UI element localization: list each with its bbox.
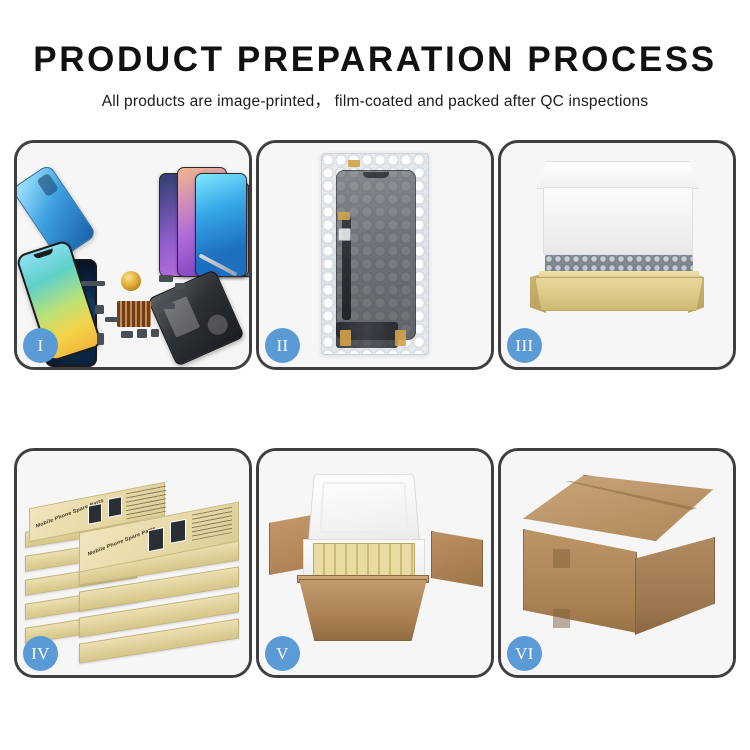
page-title: PRODUCT PREPARATION PROCESS: [0, 42, 750, 79]
part-small-5-icon: [157, 303, 175, 309]
part-small-2-icon: [175, 283, 185, 289]
part-strip-icon: [81, 281, 105, 286]
step-badge-2: II: [265, 328, 300, 363]
process-steps-grid: I II: [14, 140, 736, 730]
box-window-rear-1: [88, 503, 102, 525]
foam-lid-icon: [308, 474, 420, 543]
step-badge-1: I: [23, 328, 58, 363]
tape-top-icon: [348, 160, 360, 167]
carton-front-panel-icon: [299, 579, 427, 641]
carton-flap-right-icon: [431, 531, 483, 587]
step-badge-3: III: [507, 328, 542, 363]
part-small-6-icon: [121, 331, 133, 338]
process-step-panel-3: III: [498, 140, 736, 370]
step-badge-6: VI: [507, 636, 542, 671]
tape-bottom-right-icon: [395, 330, 406, 346]
box-checklist-front: [192, 507, 232, 541]
part-small-3-icon: [95, 305, 104, 314]
box-front-panel-icon: [535, 277, 703, 311]
bubble-wrap-bag-icon: [321, 153, 429, 355]
box-window-rear-2: [108, 496, 122, 518]
screen-notch-icon: [363, 172, 389, 178]
process-step-panel-5: V: [256, 448, 494, 678]
box-label-text-front: Mobile Phone Spare Parts: [87, 526, 156, 558]
product-preparation-process-page: PRODUCT PREPARATION PROCESS All products…: [0, 0, 750, 750]
box-lid-icon: [537, 161, 699, 189]
box-window-front-2: [170, 519, 186, 544]
part-small-7-icon: [137, 329, 147, 338]
process-step-panel-2: II: [256, 140, 494, 370]
box-checklist-rear: [126, 486, 166, 520]
process-step-panel-6: VI: [498, 448, 736, 678]
carton-tab-upper-icon: [553, 549, 570, 568]
header: PRODUCT PREPARATION PROCESS All products…: [0, 0, 750, 111]
part-small-1-icon: [159, 275, 173, 282]
process-step-panel-4: Mobile Phone Spare Parts Mobile Phone Sp…: [14, 448, 252, 678]
kraft-boxes-inside-icon: [313, 543, 415, 579]
tape-mid-icon: [338, 212, 350, 220]
speaker-module-icon: [121, 271, 141, 291]
box-window-front-1: [148, 527, 164, 552]
chip-grid-icon: [117, 301, 151, 327]
carton-front-face-icon: [523, 529, 637, 633]
phone-screen-fan-group: [103, 157, 252, 277]
phone-screen-1-icon: [195, 173, 247, 277]
carton-tab-lower-icon: [553, 609, 570, 628]
page-subtitle: All products are image-printed， film-coa…: [0, 89, 750, 111]
step-badge-4: IV: [23, 636, 58, 671]
part-small-9-icon: [97, 333, 104, 345]
part-small-4-icon: [105, 317, 119, 322]
carton-side-face-icon: [635, 537, 715, 635]
phone-mainboard-icon: [147, 269, 245, 367]
process-step-panel-1: I: [14, 140, 252, 370]
box-stack-group: Mobile Phone Spare Parts Mobile Phone Sp…: [23, 461, 243, 666]
tape-bottom-left-icon: [340, 330, 351, 346]
connector-icon: [338, 228, 351, 241]
foam-sheet-icon: [543, 187, 693, 255]
step-badge-5: V: [265, 636, 300, 671]
part-small-8-icon: [151, 329, 159, 337]
